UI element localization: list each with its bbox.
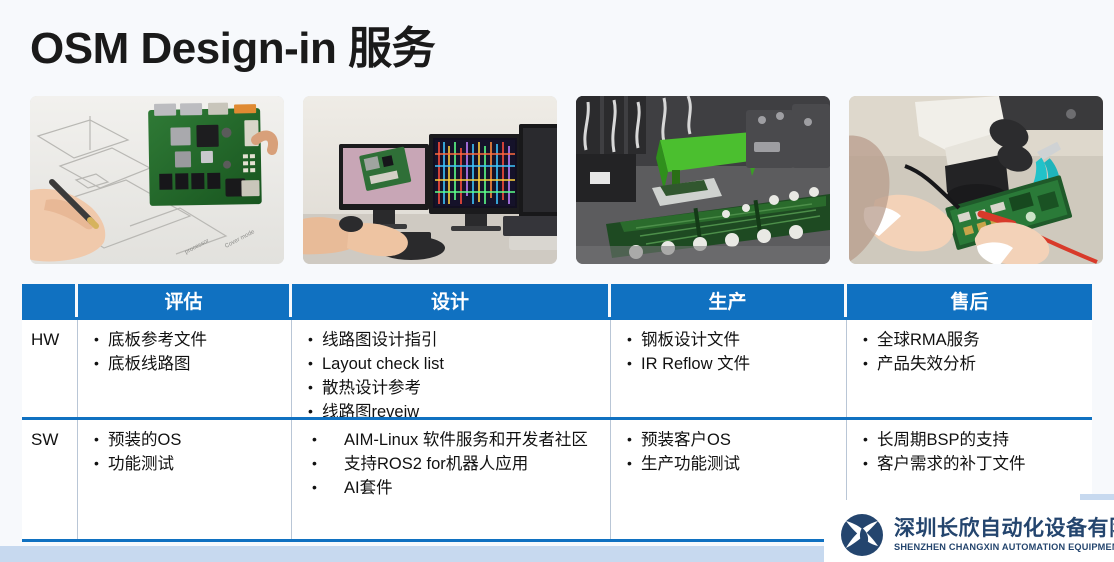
- list-item: 生产功能测试: [619, 453, 842, 476]
- row-label-sw: SW: [22, 429, 77, 451]
- bullet-list: 底板参考文件 底板线路图: [86, 329, 287, 376]
- list-item: 预装的OS: [86, 429, 287, 452]
- bullet-list: 钢板设计文件 IR Reflow 文件: [619, 329, 842, 376]
- list-item: 底板参考文件: [86, 329, 287, 352]
- company-logo: 深圳长欣自动化设备有限公司 SHENZHEN CHANGXIN AUTOMATI…: [838, 512, 1114, 558]
- photo-hand-sketching-schematic-with-pcb: Cover mode processor: [30, 96, 284, 264]
- table-header-design: 设计: [292, 284, 611, 317]
- list-item: 长周期BSP的支持: [855, 429, 1088, 452]
- microscope-inspection-icon: [849, 96, 1103, 264]
- hand-sketching-icon: Cover mode processor: [30, 96, 284, 264]
- bullet-list: 长周期BSP的支持 客户需求的补丁文件: [855, 429, 1088, 476]
- row-label-cell-sw: SW: [22, 420, 78, 539]
- photo-cad-workstation-three-monitors-pcb-layout: [303, 96, 557, 264]
- list-item: 底板线路图: [86, 353, 287, 376]
- cell-hw-design: 线路图设计指引 Layout check list 散热设计参考 线路图reve…: [292, 320, 611, 417]
- list-item: Layout check list: [300, 353, 606, 376]
- bullet-list: 预装客户OS 生产功能测试: [619, 429, 842, 476]
- list-item: 钢板设计文件: [619, 329, 842, 352]
- cell-sw-design: AIM-Linux 软件服务和开发者社区 支持ROS2 for机器人应用 AI套…: [292, 420, 611, 539]
- list-item: 线路图reveiw: [300, 401, 606, 417]
- row-label-hw: HW: [22, 329, 77, 351]
- row-label-cell-hw: HW: [22, 320, 78, 417]
- list-item: AIM-Linux 软件服务和开发者社区: [300, 429, 606, 452]
- bullet-list: AIM-Linux 软件服务和开发者社区 支持ROS2 for机器人应用 AI套…: [300, 429, 606, 500]
- photo-smt-pick-and-place-machine-placing-components: [576, 96, 830, 264]
- list-item: 支持ROS2 for机器人应用: [300, 453, 606, 476]
- company-name-cn: 深圳长欣自动化设备有限公司: [894, 517, 1114, 541]
- page-title: OSM Design-in 服务: [30, 12, 435, 76]
- list-item: 预装客户OS: [619, 429, 842, 452]
- cad-workstation-icon: [303, 96, 557, 264]
- bullet-list: 全球RMA服务 产品失效分析: [855, 329, 1088, 376]
- table-header-production: 生产: [611, 284, 847, 317]
- bullet-list: 线路图设计指引 Layout check list 散热设计参考 线路图reve…: [300, 329, 606, 417]
- photo-technician-probing-pcb-under-microscope: [849, 96, 1103, 264]
- cell-sw-evaluation: 预装的OS 功能测试: [78, 420, 292, 539]
- list-item: AI套件: [300, 477, 606, 500]
- list-item: 功能测试: [86, 453, 287, 476]
- list-item: 产品失效分析: [855, 353, 1088, 376]
- list-item: 全球RMA服务: [855, 329, 1088, 352]
- cell-sw-production: 预装客户OS 生产功能测试: [611, 420, 847, 539]
- table-row-hw: HW 底板参考文件 底板线路图 线路图设计指引 Layout check lis…: [22, 317, 1092, 417]
- logo-text-block: 深圳长欣自动化设备有限公司 SHENZHEN CHANGXIN AUTOMATI…: [894, 517, 1114, 553]
- table-header-blank: [22, 284, 78, 317]
- cell-hw-evaluation: 底板参考文件 底板线路图: [78, 320, 292, 417]
- smt-machine-icon: [576, 96, 830, 264]
- list-item: 散热设计参考: [300, 377, 606, 400]
- photo-strip: Cover mode processor: [30, 96, 1084, 264]
- cell-hw-aftersales: 全球RMA服务 产品失效分析: [847, 320, 1092, 417]
- list-item: 客户需求的补丁文件: [855, 453, 1088, 476]
- slide-canvas: OSM Design-in 服务: [0, 0, 1114, 562]
- table-header-row: 评估 设计 生产 售后: [22, 284, 1092, 317]
- cell-hw-production: 钢板设计文件 IR Reflow 文件: [611, 320, 847, 417]
- list-item: 线路图设计指引: [300, 329, 606, 352]
- list-item: IR Reflow 文件: [619, 353, 842, 376]
- bullet-list: 预装的OS 功能测试: [86, 429, 287, 476]
- table-header-aftersales: 售后: [847, 284, 1092, 317]
- table-header-evaluation: 评估: [78, 284, 292, 317]
- company-name-en: SHENZHEN CHANGXIN AUTOMATION EQUIPMENT C…: [894, 541, 1114, 553]
- changxin-circle-x-icon: [838, 512, 886, 558]
